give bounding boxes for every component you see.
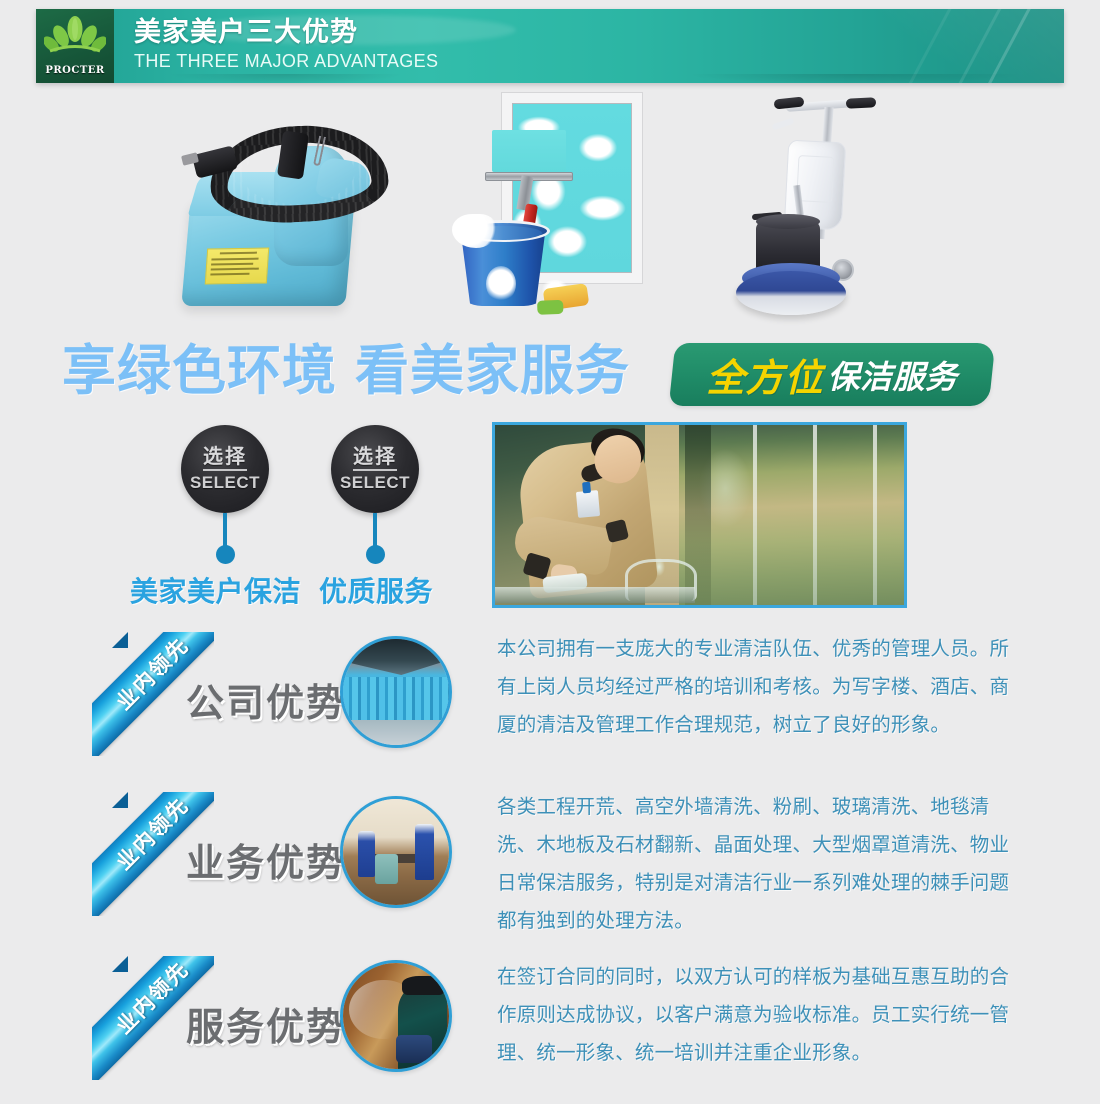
squeegee-blade: [492, 130, 566, 172]
select-badge-circle: 选择 SELECT: [181, 425, 269, 513]
badge-connector-dot: [216, 545, 235, 564]
ulv-sprayer-image: [168, 98, 418, 328]
photo-window-mullion: [753, 425, 757, 608]
advantage-description: 在签订合同的同时，以双方认可的样板为基础互惠互助的合作原则达成协议，以客户满意为…: [497, 958, 1017, 1072]
advantage-title: 业务优势: [186, 832, 346, 887]
advantage-title: 公司优势: [186, 672, 346, 727]
photo-glass-table: [495, 587, 695, 603]
main-slogan-part1: 享绿色环境: [62, 339, 337, 402]
advantages-infographic-page: PROCTER 美家美户三大优势 THE THREE MAJOR ADVANTA…: [0, 0, 1100, 1096]
select-badge-circle: 选择 SELECT: [331, 425, 419, 513]
thumb-scene: [343, 639, 449, 745]
advantage-description: 本公司拥有一支庞大的专业清洁队伍、优秀的管理人员。所有上岗人员均经过严格的培训和…: [497, 630, 1017, 744]
badge-connector-dot: [366, 545, 385, 564]
page-header: PROCTER 美家美户三大优势 THE THREE MAJOR ADVANTA…: [36, 9, 1064, 83]
thumb-worker: [358, 831, 375, 878]
brand-logo: PROCTER: [36, 9, 114, 83]
header-title-group: 美家美户三大优势 THE THREE MAJOR ADVANTAGES: [134, 18, 438, 73]
service-scope-banner: 全方位 保洁服务: [669, 343, 996, 406]
advantage-row: 业内领先 业务优势 各类工程开荒、高空外墙清洗、粉刷、玻璃清洗、地毯清洗、木地板…: [0, 788, 1100, 940]
select-badge-en: SELECT: [340, 473, 410, 493]
thumb-scene: [343, 963, 449, 1069]
thumb-scene: [343, 799, 449, 905]
brand-logo-text: PROCTER: [36, 65, 114, 76]
cleaning-staff-photo: [492, 422, 907, 608]
select-badge-labels: 美家美户保洁优质服务: [130, 570, 433, 610]
select-badge-cn: 选择: [203, 445, 247, 471]
banner-highlight-text: 全方位: [706, 347, 823, 402]
select-badge-cn: 选择: [353, 445, 397, 471]
select-badge-label-1: 美家美户保洁: [130, 570, 301, 610]
advantage-description: 各类工程开荒、高空外墙清洗、粉刷、玻璃清洗、地毯清洗、木地板及石材翻新、晶面处理…: [497, 788, 1017, 940]
window-cleaning-image: [452, 88, 692, 333]
select-badge-en: SELECT: [190, 473, 260, 493]
sponge: [543, 283, 590, 311]
photo-window-mullion: [813, 425, 817, 608]
header-title-en: THE THREE MAJOR ADVANTAGES: [134, 49, 438, 73]
product-image-strip: [0, 88, 1100, 343]
polisher-grip-right: [846, 97, 876, 109]
select-badge-label-2: 优质服务: [319, 570, 433, 610]
thumb-spray-device: [396, 1035, 432, 1063]
polisher-lever: [772, 118, 795, 131]
ribbon-fold-top: [112, 632, 128, 648]
select-badge-2[interactable]: 选择 SELECT: [295, 425, 455, 513]
thumb-worker-hat: [402, 976, 444, 995]
bucket-foam: [452, 214, 496, 248]
header-title-cn: 美家美户三大优势: [134, 18, 438, 48]
header-shadow-right: [690, 74, 1020, 84]
select-badge-1[interactable]: 选择 SELECT: [145, 425, 305, 513]
main-slogan: 享绿色环境看美家服务: [62, 340, 630, 402]
banner-rest-text: 保洁服务: [828, 352, 958, 398]
advantage-row: 业内领先 服务优势 在签订合同的同时，以双方认可的样板为基础互惠互助的合作原则达…: [0, 952, 1100, 1104]
floor-polisher-image: [724, 93, 924, 333]
photo-staff-id-badge: [576, 490, 600, 518]
polisher-base-pad: [736, 271, 846, 315]
staff-team-photo: [340, 636, 452, 748]
leaf-cluster-icon: [44, 15, 106, 57]
thumb-chair: [375, 854, 398, 884]
ribbon-fold-top: [112, 956, 128, 972]
header-shadow-left: [170, 74, 400, 84]
photo-window-mullion: [873, 425, 877, 608]
advantage-row: 业内领先 公司优势 本公司拥有一支庞大的专业清洁队伍、优秀的管理人员。所有上岗人…: [0, 628, 1100, 780]
bucket-foam-drip: [486, 266, 516, 302]
thumb-worker: [415, 824, 434, 879]
thumb-roof: [343, 639, 449, 675]
indoor-cleaning-photo: [340, 796, 452, 908]
advantage-title: 服务优势: [186, 996, 346, 1051]
sprayer-spec-label: [205, 247, 270, 284]
ribbon-fold-top: [112, 792, 128, 808]
main-slogan-part2: 看美家服务: [355, 339, 630, 402]
spray-cleaning-photo: [340, 960, 452, 1072]
